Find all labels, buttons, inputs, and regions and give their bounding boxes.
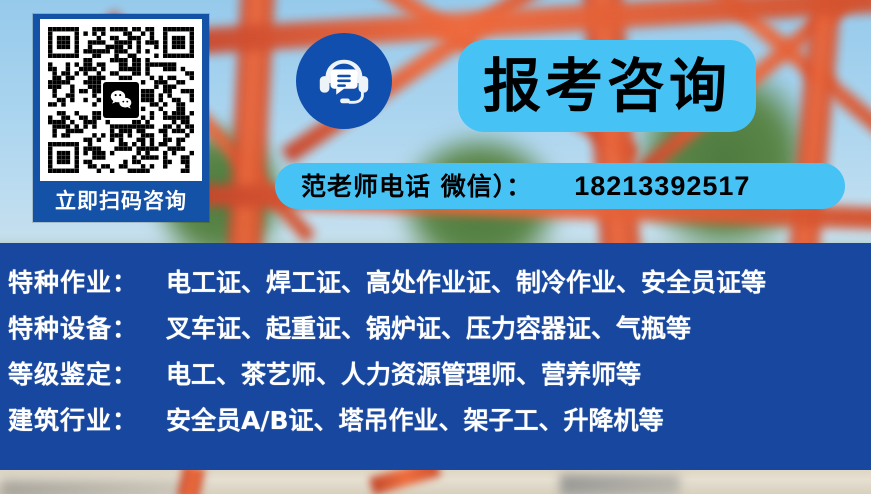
service-row: 等级鉴定： 电工、茶艺师、人力资源管理师、营养师等 (0, 355, 871, 401)
wechat-icon (103, 82, 139, 118)
services-panel: 特种作业： 电工证、焊工证、高处作业证、制冷作业、安全员证等 特种设备： 叉车证… (0, 243, 871, 470)
service-category: 等级鉴定： (8, 355, 160, 391)
page-title: 报考咨询 (483, 57, 731, 115)
bottom-photo-strip (0, 470, 871, 494)
contact-number[interactable]: 18213392517 (574, 173, 750, 200)
service-items: 电工、茶艺师、人力资源管理师、营养师等 (166, 355, 641, 391)
headline-pill: 报考咨询 (458, 40, 756, 132)
service-items: 电工证、焊工证、高处作业证、制冷作业、安全员证等 (166, 263, 766, 299)
service-row: 特种设备： 叉车证、起重证、锅炉证、压力容器证、气瓶等 (0, 309, 871, 355)
service-row: 建筑行业： 安全员A/B证、塔吊作业、架子工、升降机等 (0, 401, 871, 447)
headset-support-icon (296, 33, 392, 129)
service-items: 叉车证、起重证、锅炉证、压力容器证、气瓶等 (166, 309, 691, 345)
service-category: 特种设备： (8, 309, 160, 345)
contact-pill[interactable]: 范老师电话 微信）： 18213392517 (275, 163, 845, 209)
qr-card-caption: 立即扫码咨询 (55, 191, 187, 212)
advertisement-poster: 立即扫码咨询 报考咨询 范老师电话 微信）： 18213392517 特种作业：… (0, 0, 871, 494)
contact-label: 范老师电话 微信）： (301, 174, 532, 199)
service-row: 特种作业： 电工证、焊工证、高处作业证、制冷作业、安全员证等 (0, 263, 871, 309)
service-category: 特种作业： (8, 263, 160, 299)
qr-code-image[interactable] (40, 19, 202, 181)
service-items: 安全员A/B证、塔吊作业、架子工、升降机等 (166, 401, 664, 437)
service-category: 建筑行业： (8, 401, 160, 437)
qr-code-card[interactable]: 立即扫码咨询 (33, 14, 209, 222)
